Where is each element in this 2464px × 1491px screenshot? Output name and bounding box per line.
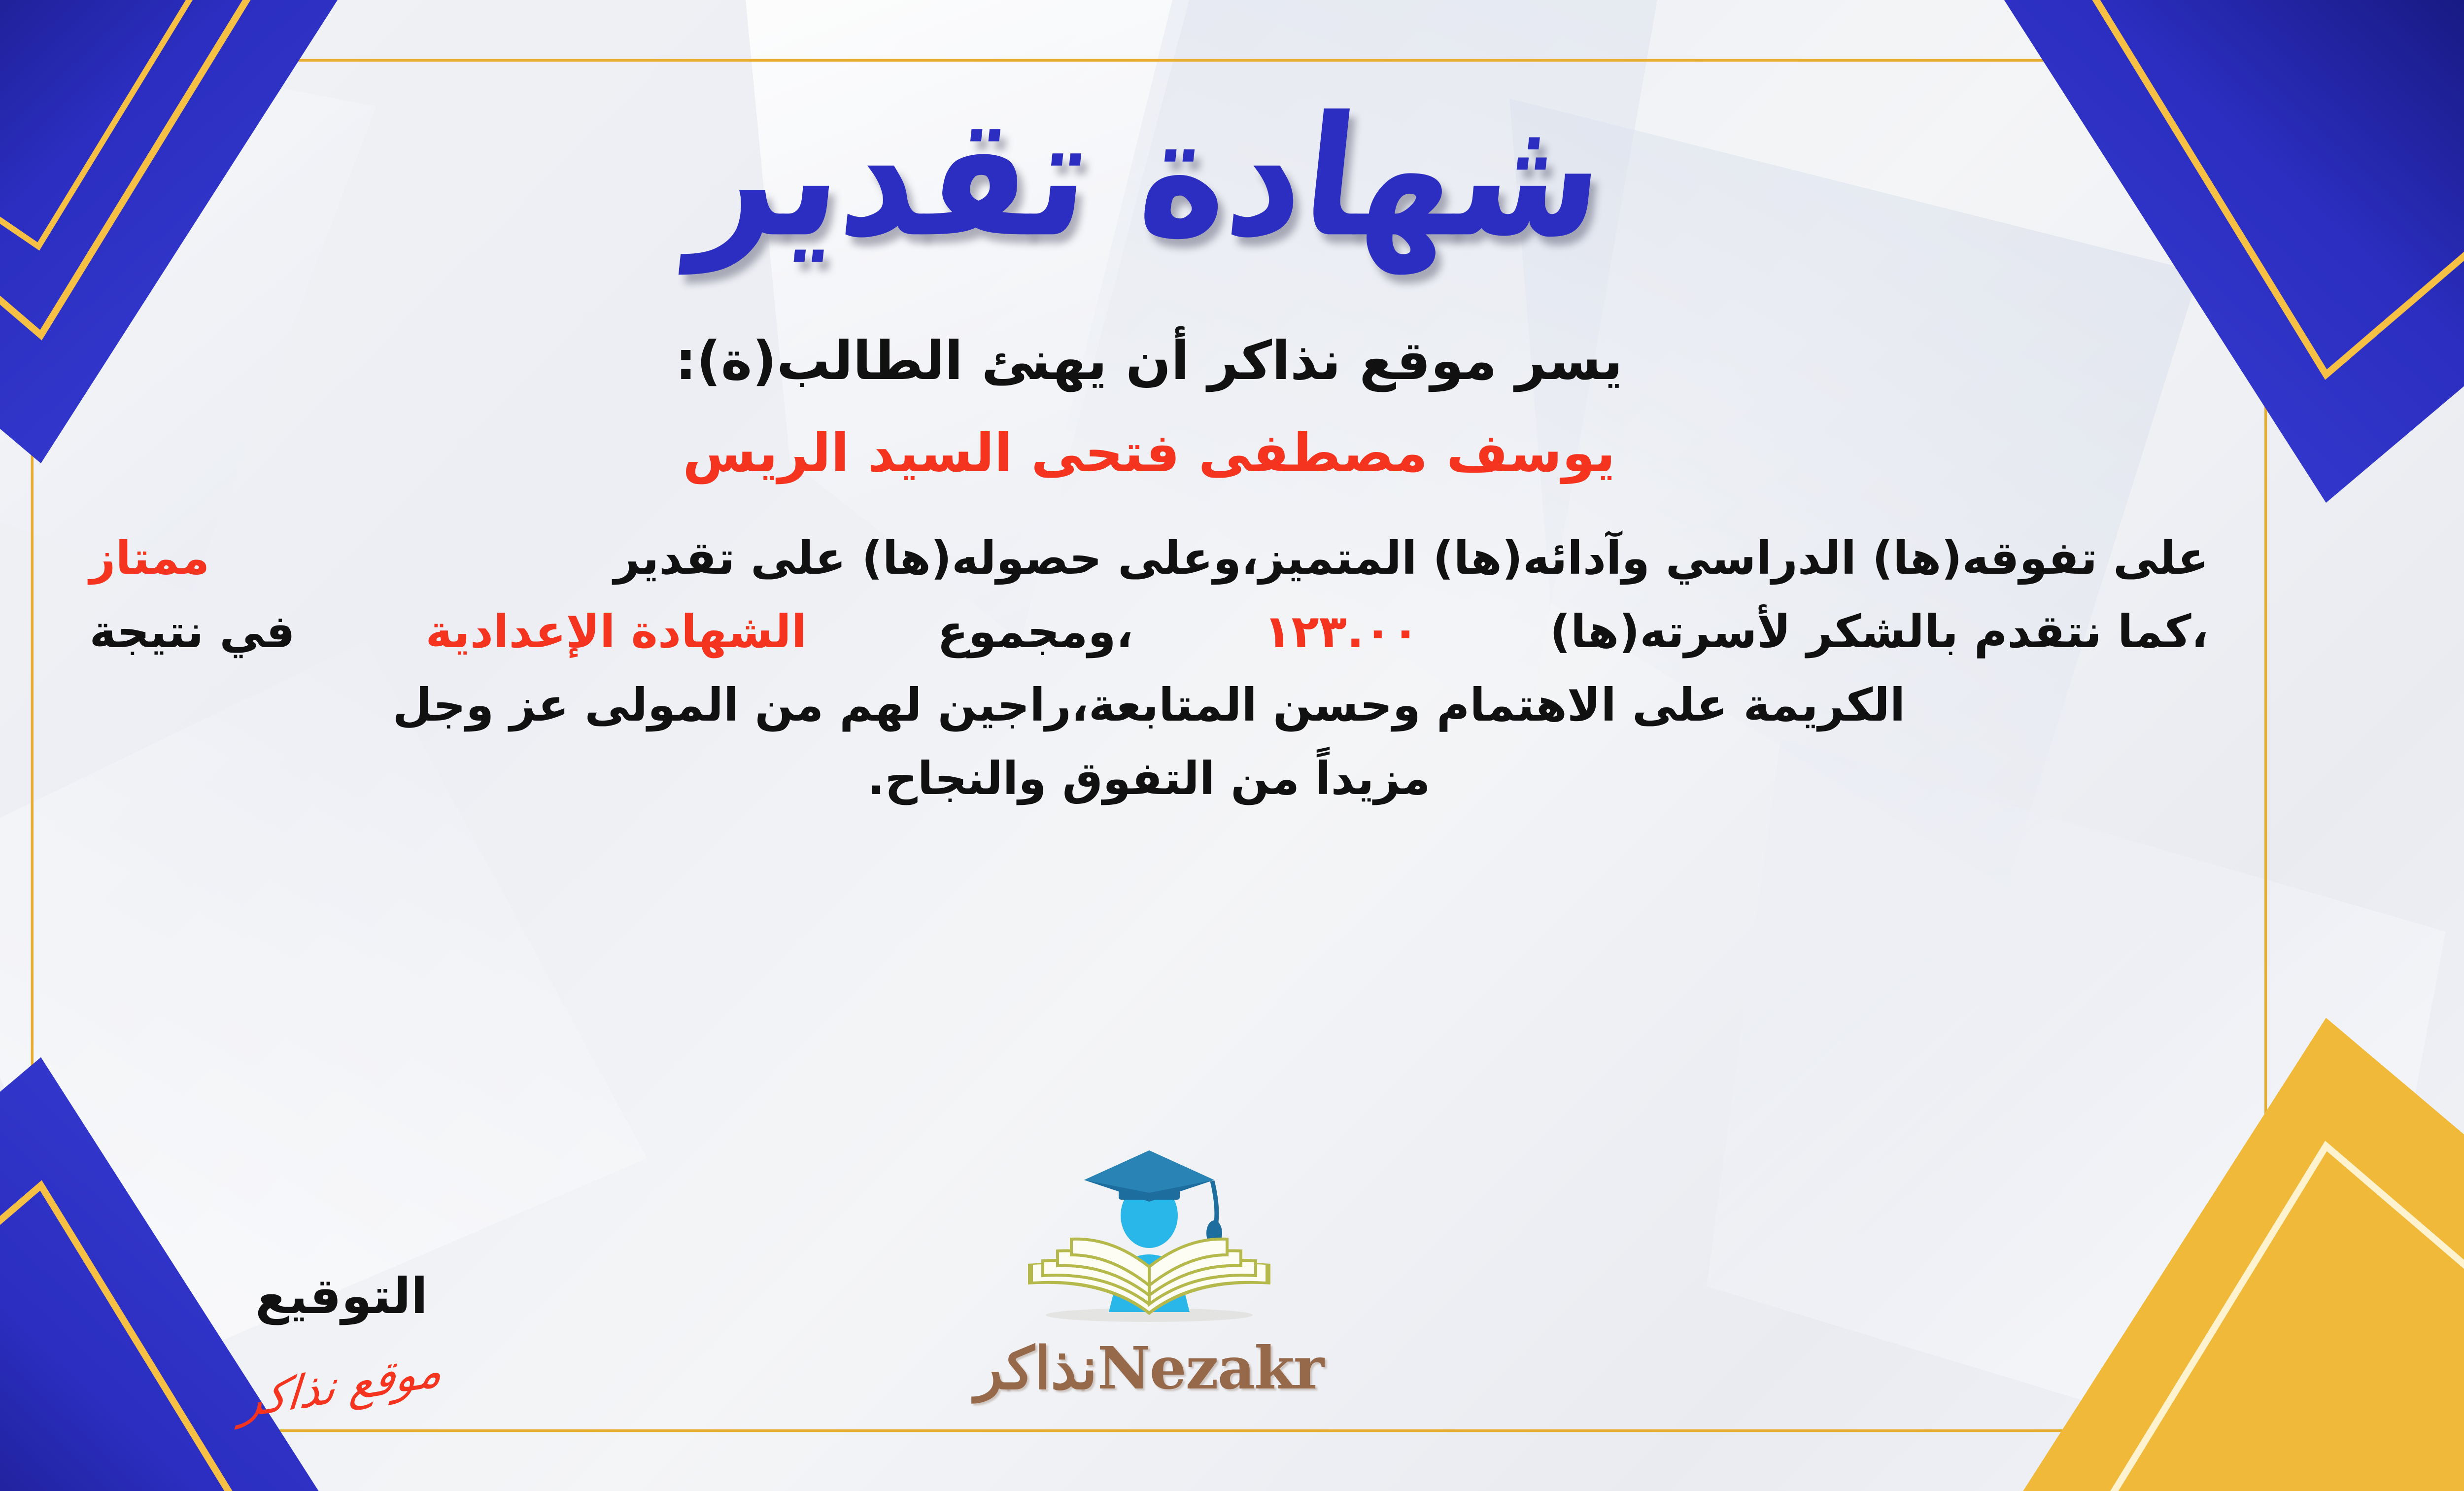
grade-value: ممتاز — [90, 521, 210, 595]
certificate-content: شهادة تقدير يسر موقع نذاكر أن يهنئ الطال… — [31, 59, 2267, 1432]
exam-name-value: الشهادة الإعدادية — [425, 595, 807, 668]
signature-label: التوقيع — [255, 1267, 428, 1325]
brand-logo-block: Nezakrنذاكر — [878, 1142, 1420, 1402]
paragraph-line-1-text: على تفوقه(ها) الدراسي وآدائه(ها) المتميز… — [614, 521, 2208, 595]
paragraph-line-2-suffix: ،كما نتقدم بالشكر لأسرته(ها) — [1550, 595, 2209, 668]
paragraph-line-4: مزيداً من التفوق والنجاح. — [90, 742, 2209, 815]
certificate-canvas: شهادة تقدير يسر موقع نذاكر أن يهنئ الطال… — [0, 0, 2464, 1491]
greeting-text: يسر موقع نذاكر أن يهنئ الطالب(ة): — [675, 330, 1623, 392]
body-paragraph: على تفوقه(ها) الدراسي وآدائه(ها) المتميز… — [90, 521, 2209, 815]
certificate-footer: Nezakrنذاكر التوقيع موقع نذاكر — [31, 1142, 2267, 1412]
paragraph-line-1: على تفوقه(ها) الدراسي وآدائه(ها) المتميز… — [90, 521, 2209, 595]
total-score-value: ١٢٣.٠٠ — [1264, 595, 1419, 668]
paragraph-line-2-prefix: في نتيجة — [90, 595, 295, 668]
title-block: شهادة تقدير — [31, 79, 2267, 276]
signature-block: التوقيع موقع نذاكر — [120, 1267, 563, 1412]
signature-mark: موقع نذاكر — [239, 1343, 445, 1428]
paragraph-line-2: ،كما نتقدم بالشكر لأسرته(ها) ١٢٣.٠٠ ،ومج… — [90, 595, 2209, 668]
student-name: يوسف مصطفى فتحى السيد الريس — [683, 422, 1615, 484]
paragraph-line-3: الكريمة على الاهتمام وحسن المتابعة،راجين… — [90, 668, 2209, 742]
graduate-book-logo-icon — [992, 1142, 1307, 1339]
brand-wordmark: Nezakrنذاكر — [975, 1334, 1323, 1402]
paragraph-line-2-mid: ،ومجموع — [937, 595, 1133, 668]
certificate-title: شهادة تقدير — [686, 95, 1612, 260]
